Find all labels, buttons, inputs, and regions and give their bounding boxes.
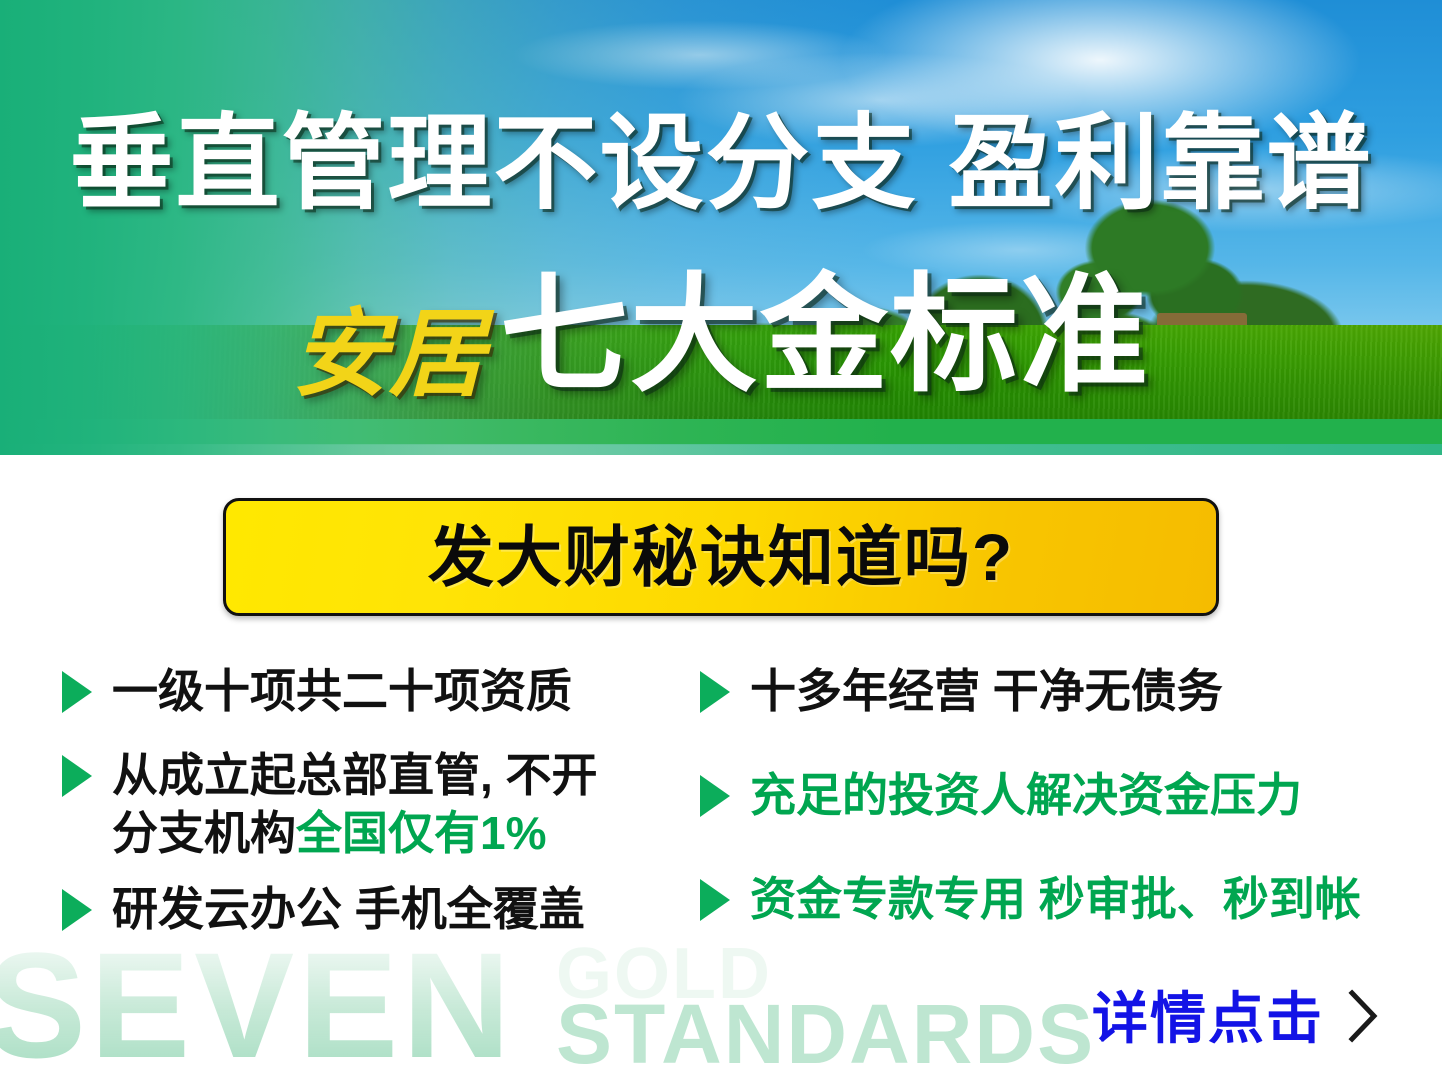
- feature-text-left-2-highlight: 全国仅有1%: [296, 807, 546, 859]
- feature-item-left-3: 研发云办公 手机全覆盖: [62, 880, 682, 938]
- chevron-right-icon: [1346, 989, 1380, 1048]
- feature-item-left-2: 从成立起总部直管, 不开 分支机构全国仅有1%: [62, 746, 682, 862]
- feature-text-right-3: 资金专款专用 秒审批、秒到帐: [750, 870, 1361, 928]
- callout-banner[interactable]: 发大财秘诀知道吗?: [223, 498, 1219, 616]
- hero-headline-secondary: 七大金标准: [500, 272, 1150, 400]
- features-column-right: 十多年经营 干净无债务 充足的投资人解决资金压力 资金专款专用 秒审批、秒到帐: [700, 662, 1400, 974]
- feature-text-left-2-line1: 从成立起总部直管, 不开: [112, 749, 598, 801]
- triangle-bullet-icon: [700, 775, 730, 817]
- triangle-bullet-icon: [700, 671, 730, 713]
- feature-item-right-1: 十多年经营 干净无债务: [700, 662, 1400, 720]
- feature-text-left-1: 一级十项共二十项资质: [112, 662, 572, 720]
- feature-item-right-3: 资金专款专用 秒审批、秒到帐: [700, 870, 1400, 928]
- hero-headline-secondary-row: 安居七大金标准: [0, 272, 1442, 439]
- features-columns: 一级十项共二十项资质 从成立起总部直管, 不开 分支机构全国仅有1% 研发云办公…: [0, 662, 1442, 992]
- feature-text-right-2: 充足的投资人解决资金压力: [750, 766, 1302, 824]
- feature-text-right-1: 十多年经营 干净无债务: [750, 662, 1223, 720]
- details-cta-label: 详情点击: [1092, 991, 1324, 1047]
- feature-item-left-1: 一级十项共二十项资质: [62, 662, 682, 720]
- triangle-bullet-icon: [62, 671, 92, 713]
- callout-text: 发大财秘诀知道吗?: [428, 524, 1014, 590]
- triangle-bullet-icon: [62, 889, 92, 931]
- callout-container: 发大财秘诀知道吗?: [0, 498, 1442, 616]
- triangle-bullet-icon: [62, 755, 92, 797]
- feature-text-left-2-line2: 分支机构全国仅有1%: [112, 804, 598, 862]
- feature-item-right-2: 充足的投资人解决资金压力: [700, 766, 1400, 824]
- details-cta-button[interactable]: 详情点击: [1092, 989, 1380, 1048]
- hero-headline-primary: 垂直管理不设分支 盈利靠谱: [0, 112, 1442, 216]
- brand-seal-text: 安居: [292, 291, 486, 419]
- watermark-standards: STANDARDS: [556, 992, 1095, 1066]
- triangle-bullet-icon: [700, 879, 730, 921]
- advertisement-banner: 垂直管理不设分支 盈利靠谱 安居七大金标准 发大财秘诀知道吗? 一级十项共二十项…: [0, 0, 1442, 1066]
- feature-text-left-2: 从成立起总部直管, 不开 分支机构全国仅有1%: [112, 746, 598, 862]
- feature-text-left-3: 研发云办公 手机全覆盖: [112, 880, 585, 938]
- hero-section: 垂直管理不设分支 盈利靠谱 安居七大金标准: [0, 0, 1442, 455]
- features-column-left: 一级十项共二十项资质 从成立起总部直管, 不开 分支机构全国仅有1% 研发云办公…: [62, 662, 682, 964]
- feature-text-left-2-plain: 分支机构: [112, 807, 296, 859]
